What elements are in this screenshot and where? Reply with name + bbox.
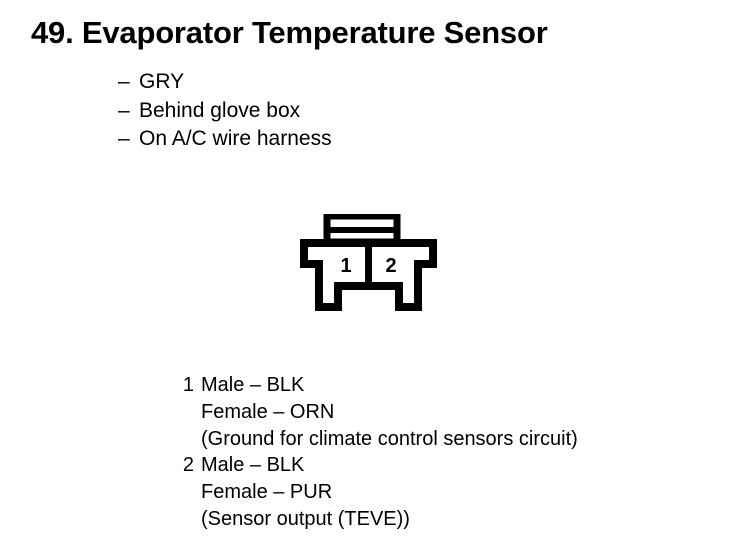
pin-circuit-description: (Sensor output (TEVE))	[201, 508, 410, 530]
pin-male-wire: Male – BLK	[201, 454, 304, 476]
pin-male-row: 2Male – BLK	[168, 452, 578, 479]
dash-bullet-icon: –	[118, 125, 139, 154]
pin-female-row: Female – PUR	[168, 479, 578, 506]
location-item-label: GRY	[139, 70, 184, 93]
pin-entry: 1Male – BLK Female – ORN (Ground for cli…	[168, 372, 578, 452]
pin-male-wire: Male – BLK	[201, 374, 304, 396]
pin-female-row: Female – ORN	[168, 399, 578, 426]
connector-diagram: 1 2	[296, 214, 441, 314]
pin-entry: 2Male – BLK Female – PUR (Sensor output …	[168, 452, 578, 532]
page-title: 49. Evaporator Temperature Sensor	[31, 17, 548, 48]
connector-drawing: 1 2	[296, 214, 441, 314]
location-item-label: Behind glove box	[139, 99, 300, 122]
location-item: –On A/C wire harness	[118, 125, 332, 154]
pin-female-wire: Female – PUR	[201, 481, 332, 503]
location-item: –Behind glove box	[118, 97, 332, 126]
location-item-label: On A/C wire harness	[139, 127, 332, 150]
pin-number: 1	[168, 372, 194, 399]
pin-circuit-description: (Ground for climate control sensors circ…	[201, 428, 578, 450]
pin-male-row: 1Male – BLK	[168, 372, 578, 399]
pin-circuit-row: (Ground for climate control sensors circ…	[168, 426, 578, 453]
pin-female-wire: Female – ORN	[201, 401, 334, 423]
location-list: –GRY –Behind glove box –On A/C wire harn…	[118, 68, 332, 154]
pin-circuit-row: (Sensor output (TEVE))	[168, 506, 578, 533]
location-item: –GRY	[118, 68, 332, 97]
dash-bullet-icon: –	[118, 68, 139, 97]
dash-bullet-icon: –	[118, 97, 139, 126]
pin-number: 2	[168, 452, 194, 479]
pin-assignment-list: 1Male – BLK Female – ORN (Ground for cli…	[168, 372, 578, 533]
connector-pin-2-label: 2	[385, 255, 396, 277]
connector-pin-1-label: 1	[340, 255, 351, 277]
